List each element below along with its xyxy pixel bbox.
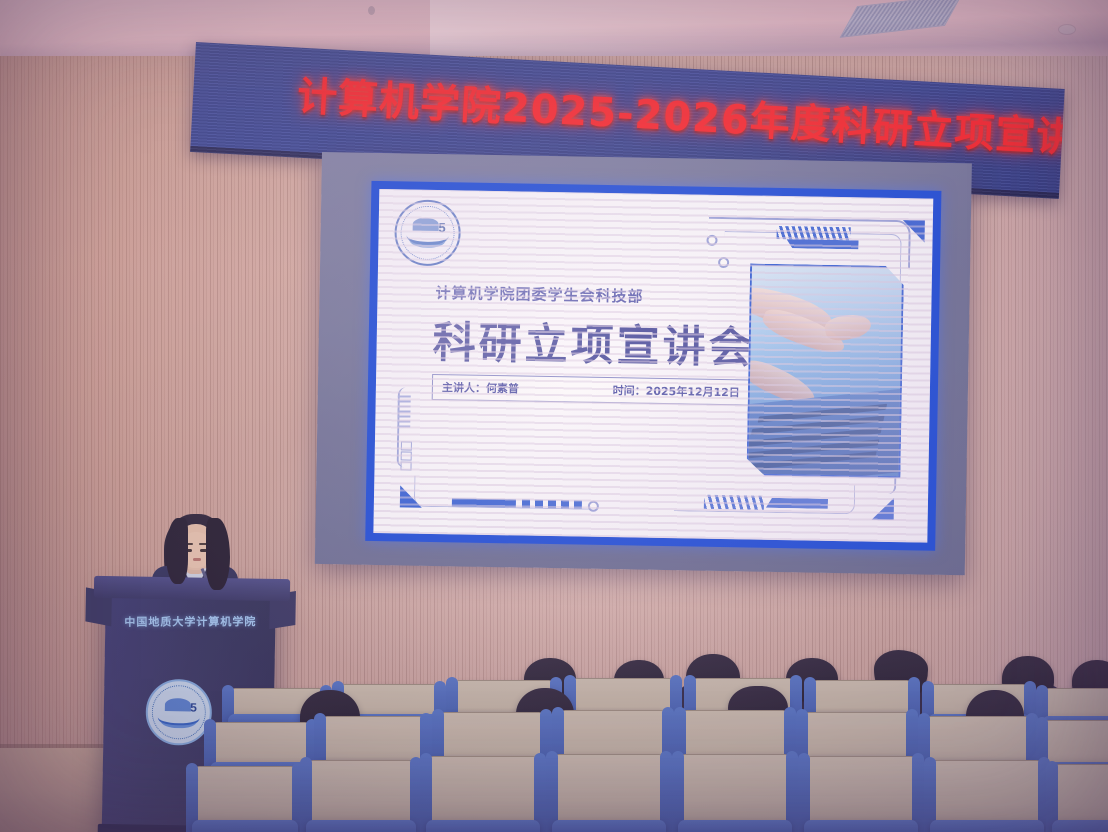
seat-cushion: [426, 820, 540, 832]
ceiling-light-icon: [368, 6, 375, 15]
slide-speaker-label: 主讲人：何素普: [442, 379, 519, 396]
auditorium-seat[interactable]: [934, 760, 1040, 832]
auditorium-seat[interactable]: [430, 756, 536, 832]
seat-cushion: [306, 820, 416, 832]
deco-bar-bottom-right: [766, 498, 828, 509]
deco-bar-top-right: [786, 239, 858, 249]
auditorium-seat[interactable]: [682, 754, 788, 832]
speaker-mouth: [193, 558, 201, 561]
deco-slashes-bottom: [704, 495, 764, 510]
deco-bar-bottom: [452, 498, 516, 507]
seat-cushion: [552, 820, 666, 832]
speaker-hair-front-left: [166, 518, 188, 584]
deco-dashes-bottom: [522, 500, 582, 509]
presentation-slide[interactable]: 5 计算机学院团委学生会科技部 科研立项宣讲会 主讲人：何素普 时间：2025年…: [373, 189, 933, 543]
slide-date-label: 时间：2025年12月12日: [613, 382, 740, 400]
slide-info-bar: 主讲人：何素普 时间：2025年12月12日: [432, 374, 750, 406]
auditorium-scene: 计算机学院2025-2026年度科研立项宣讲会 5 计算机学院团委学生会科技部 …: [0, 0, 1108, 832]
auditorium-seat[interactable]: [556, 754, 662, 832]
deco-corner-trace-bottom: [674, 482, 855, 514]
seat-cushion: [192, 820, 298, 832]
emblem-number: 5: [438, 220, 445, 235]
seat-cushion: [804, 820, 918, 832]
slide-title: 科研立项宣讲会: [432, 308, 755, 376]
podium-emblem-icon: 5: [145, 679, 212, 746]
slide-photo-laptop-hands: [746, 263, 904, 478]
seat-cushion: [678, 820, 792, 832]
emblem-swoosh-secondary: [161, 714, 197, 729]
photo-tint: [748, 266, 902, 477]
seat-cushion: [930, 820, 1044, 832]
university-emblem-icon: 5: [394, 199, 461, 266]
auditorium-seat[interactable]: [808, 756, 914, 832]
deco-triangle-top-right: [903, 220, 925, 242]
deco-slashes-top: [777, 226, 851, 240]
screen-bezel: 5 计算机学院团委学生会科技部 科研立项宣讲会 主讲人：何素普 时间：2025年…: [365, 181, 941, 551]
deco-node-dot: [588, 501, 599, 512]
auditorium-seat[interactable]: [310, 760, 412, 832]
deco-triangle-bottom-right: [872, 498, 894, 520]
deco-slashes-left: [397, 393, 411, 427]
deco-triangle-bottom-left: [400, 485, 422, 507]
podium-top-surface: [94, 576, 290, 601]
podium-institution-text: 中国地质大学计算机学院: [111, 613, 269, 630]
projection-screen-frame: 5 计算机学院团委学生会科技部 科研立项宣讲会 主讲人：何素普 时间：2025年…: [315, 152, 972, 575]
emblem-number: 5: [190, 700, 197, 714]
auditorium-seat[interactable]: [1056, 764, 1108, 832]
slide-subtitle: 计算机学院团委学生会科技部: [435, 282, 643, 307]
seat-cushion: [1052, 820, 1108, 832]
auditorium-seat[interactable]: [196, 766, 294, 832]
